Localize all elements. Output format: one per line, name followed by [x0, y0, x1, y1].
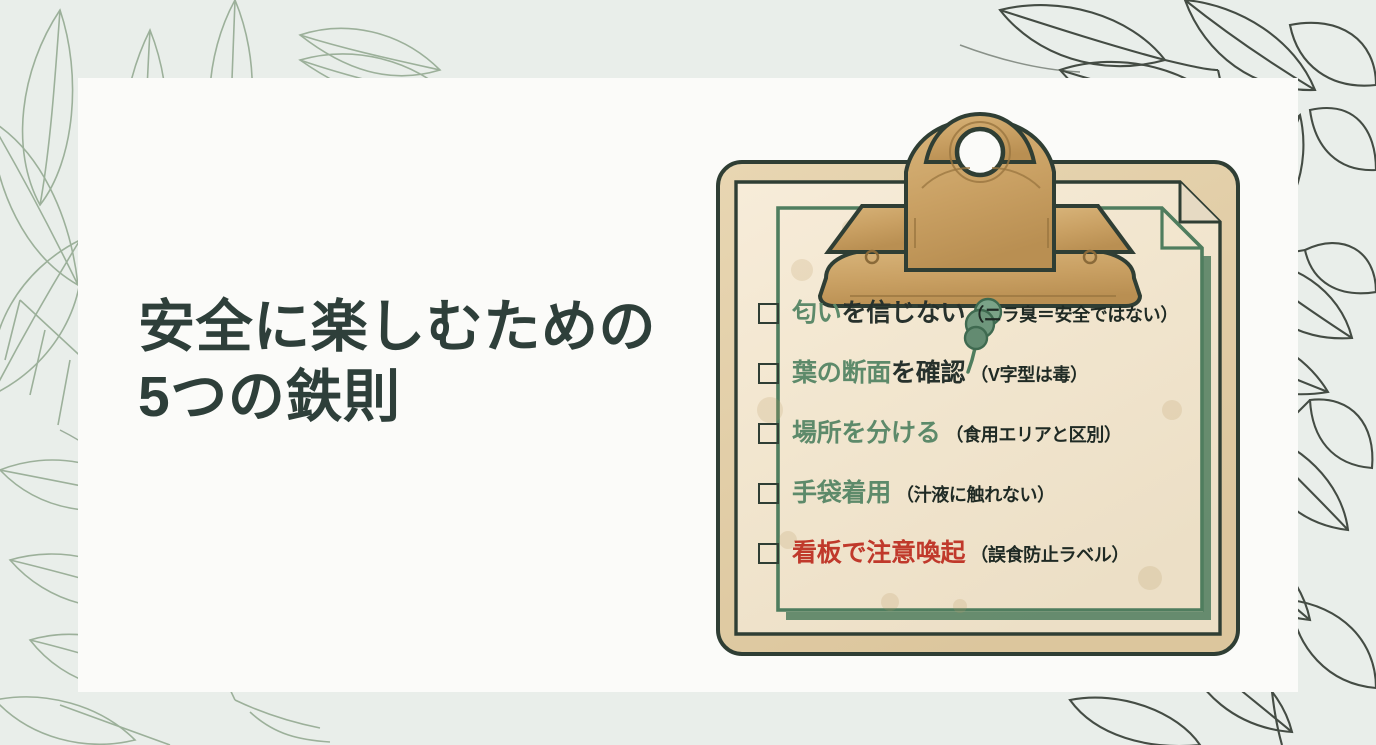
- checklist-item-5[interactable]: 看板で注意喚起 （誤食防止ラベル）: [758, 533, 1228, 593]
- item-3-note: （食用エリアと区別）: [946, 421, 1122, 447]
- item-1-accent: 匂い: [792, 299, 842, 327]
- item-2-rest: を確認: [891, 359, 965, 387]
- safety-checklist: 匂いを信じない （ニラ臭＝安全ではない） 葉の断面を確認 （V字型は毒） 場所を…: [758, 293, 1228, 593]
- item-1-rest: を信じない: [842, 299, 966, 327]
- item-3-main: 場所を分ける: [792, 413, 941, 449]
- item-1-note: （ニラ臭＝安全ではない）: [966, 301, 1178, 327]
- item-2-main: 葉の断面を確認: [792, 353, 965, 389]
- checklist-item-4[interactable]: 手袋着用 （汁液に触れない）: [758, 473, 1228, 533]
- content-card: 安全に楽しむための 5つの鉄則: [78, 78, 1298, 692]
- checkbox-icon[interactable]: [758, 303, 779, 324]
- item-5-accent: 看板で注意喚起: [792, 539, 965, 567]
- item-1-main: 匂いを信じない: [792, 293, 965, 329]
- item-5-note: （誤食防止ラベル）: [970, 541, 1129, 567]
- item-4-accent: 手袋着用: [792, 479, 891, 507]
- checklist-item-1[interactable]: 匂いを信じない （ニラ臭＝安全ではない）: [758, 293, 1228, 353]
- clipboard-clip: [820, 114, 1140, 306]
- item-4-main: 手袋着用: [792, 473, 891, 509]
- title-line-2: 5つの鉄則: [138, 363, 718, 433]
- item-5-main: 看板で注意喚起: [792, 533, 965, 569]
- item-2-note: （V字型は毒）: [970, 361, 1088, 387]
- page-title: 安全に楽しむための 5つの鉄則: [138, 293, 718, 432]
- checkbox-icon[interactable]: [758, 483, 779, 504]
- item-4-note: （汁液に触れない）: [896, 481, 1055, 507]
- checklist-item-3[interactable]: 場所を分ける （食用エリアと区別）: [758, 413, 1228, 473]
- checkbox-icon[interactable]: [758, 543, 779, 564]
- title-line-1: 安全に楽しむための: [138, 293, 718, 363]
- checklist-item-2[interactable]: 葉の断面を確認 （V字型は毒）: [758, 353, 1228, 413]
- checkbox-icon[interactable]: [758, 363, 779, 384]
- clipboard-illustration: 匂いを信じない （ニラ臭＝安全ではない） 葉の断面を確認 （V字型は毒） 場所を…: [710, 110, 1250, 670]
- item-3-accent: 場所を分ける: [792, 419, 941, 447]
- checkbox-icon[interactable]: [758, 423, 779, 444]
- item-2-accent: 葉の断面: [792, 359, 891, 387]
